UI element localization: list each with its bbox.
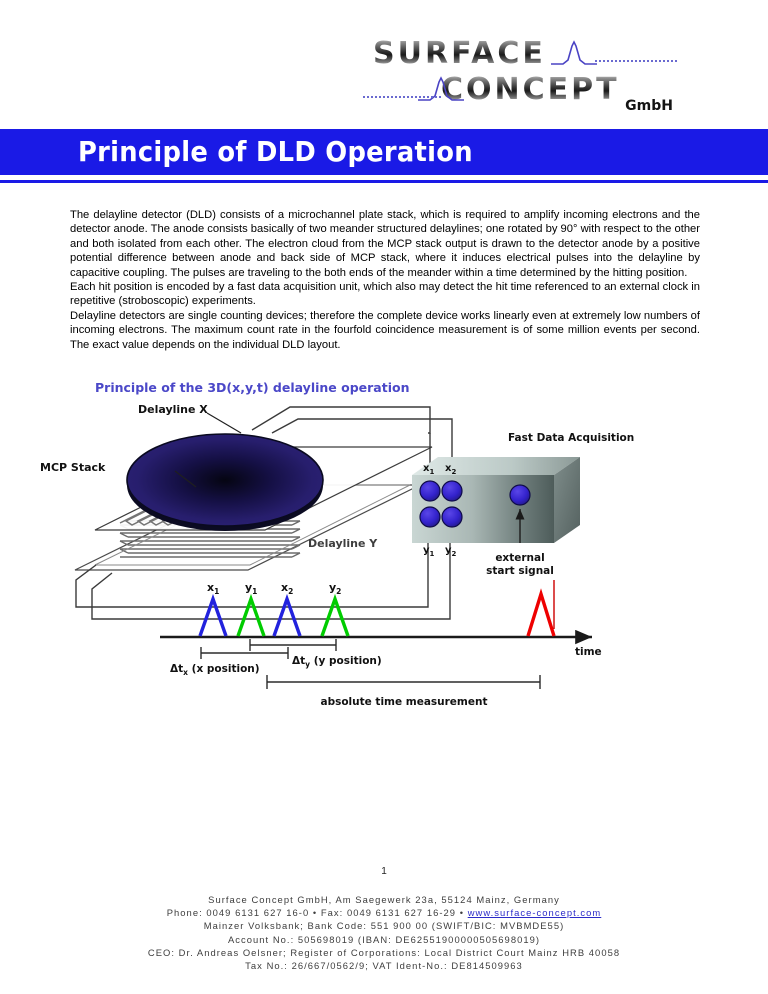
figure-diagram-svg: Delayline X Delayline Y MCP Stack Fast D…: [0, 375, 768, 715]
company-suffix-gmbh: GmbH: [625, 98, 673, 114]
label-fast-data-acquisition: Fast Data Acquisition: [508, 432, 634, 444]
paragraph-2: Each hit position is encoded by a fast d…: [70, 280, 700, 309]
footer-phone-text: Phone: 0049 6131 627 16-0 • Fax: 0049 61…: [167, 907, 468, 918]
paragraph-3: Delayline detectors are single counting …: [70, 309, 700, 352]
label-pulse-y2: y2: [329, 581, 341, 596]
fast-data-acquisition-box: [412, 457, 580, 543]
footer-line-bank: Mainzer Volksbank; Bank Code: 551 900 00…: [0, 919, 768, 932]
page-header: SURFACE CONCEPT GmbH: [0, 0, 768, 125]
daq-circle-y1: [420, 507, 440, 527]
label-dtx: Δtx (x position): [170, 663, 260, 677]
daq-circle-x2: [442, 481, 462, 501]
logo-dotted-line-bottom: [363, 96, 441, 98]
page-number: 1: [0, 866, 768, 877]
measure-bar-dty: [250, 639, 336, 651]
body-text-block: The delayline detector (DLD) consists of…: [70, 208, 700, 352]
label-pulse-x2: x2: [281, 581, 293, 596]
paragraph-1: The delayline detector (DLD) consists of…: [70, 208, 700, 280]
measure-bar-dtx: [201, 647, 288, 659]
logo-peak-icon-top: [551, 40, 597, 66]
label-time-axis: time: [575, 646, 602, 658]
company-logo: SURFACE CONCEPT: [373, 36, 673, 106]
pulse-y1: [238, 599, 264, 636]
label-pulse-y1: y1: [245, 581, 257, 596]
measure-bar-absolute-time: [267, 675, 540, 689]
pulse-start-signal: [528, 594, 554, 636]
label-dty: Δty (y position): [292, 655, 382, 669]
daq-circle-start: [510, 485, 530, 505]
page-title: Principle of DLD Operation: [78, 135, 473, 168]
footer-line-address: Surface Concept GmbH, Am Saegewerk 23a, …: [0, 893, 768, 906]
title-banner: Principle of DLD Operation: [0, 129, 768, 175]
pulse-x2: [274, 599, 300, 636]
footer-website-link[interactable]: www.surface-concept.com: [468, 907, 602, 918]
logo-text-concept: CONCEPT: [441, 72, 620, 107]
pulse-y2: [322, 599, 348, 636]
pulse-triangles: [200, 594, 554, 636]
label-daq-y2: y2: [445, 545, 457, 558]
label-external-start-line2: start signal: [486, 565, 554, 577]
footer-line-phone: Phone: 0049 6131 627 16-0 • Fax: 0049 61…: [0, 906, 768, 919]
figure-dld-principle: Principle of the 3D(x,y,t) delayline ope…: [0, 375, 768, 715]
mcp-stack-disk: [127, 434, 323, 531]
label-pulse-x1: x1: [207, 581, 219, 596]
label-delayline-y: Delayline Y: [308, 537, 378, 550]
page-footer: Surface Concept GmbH, Am Saegewerk 23a, …: [0, 893, 768, 972]
logo-dotted-line-top: [595, 60, 677, 62]
label-delayline-x: Delayline X: [138, 403, 208, 416]
label-mcp-stack: MCP Stack: [40, 461, 106, 474]
pulse-x1: [200, 599, 226, 636]
logo-text-surface: SURFACE: [373, 36, 546, 71]
footer-line-tax: Tax No.: 26/667/0562/9; VAT Ident-No.: D…: [0, 959, 768, 972]
footer-line-account: Account No.: 505698019 (IBAN: DE62551900…: [0, 933, 768, 946]
label-absolute-time-measurement: absolute time measurement: [320, 696, 487, 708]
logo-peak-icon-bottom: [418, 76, 464, 102]
daq-circle-x1: [420, 481, 440, 501]
label-daq-y1: y1: [423, 545, 435, 558]
title-underline-rule: [0, 180, 768, 183]
footer-line-ceo: CEO: Dr. Andreas Oelsner; Register of Co…: [0, 946, 768, 959]
label-external-start-line1: external: [495, 552, 544, 564]
daq-circle-y2: [442, 507, 462, 527]
